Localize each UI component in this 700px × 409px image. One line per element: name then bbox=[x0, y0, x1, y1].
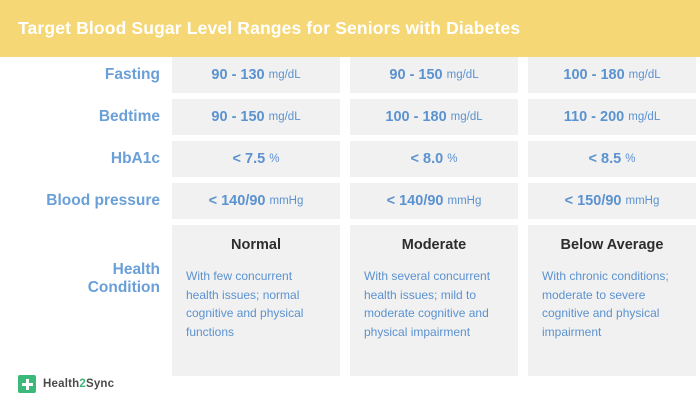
condition-title: Moderate bbox=[364, 237, 504, 253]
cell-condition-normal: Normal With few concurrent health issues… bbox=[172, 225, 340, 376]
cell-bedtime-moderate: 100 - 180 mg/dL bbox=[350, 99, 518, 135]
value-text: 100 - 180 bbox=[563, 67, 624, 83]
value-text: < 140/90 bbox=[387, 193, 444, 209]
column-gap bbox=[518, 225, 528, 376]
value-text: 110 - 200 bbox=[564, 109, 624, 125]
brand-name-part1: Health bbox=[43, 378, 79, 390]
column-gap bbox=[340, 141, 350, 177]
cell-bp-below-average: < 150/90 mmHg bbox=[528, 183, 696, 219]
unit-text: mg/dL bbox=[269, 69, 301, 81]
brand-name: Health2Sync bbox=[43, 378, 114, 390]
row-label-line2: Condition bbox=[88, 279, 160, 297]
table-row: HbA1c < 7.5 % < 8.0 % < 8.5 % bbox=[0, 141, 700, 177]
brand-footer: Health2Sync bbox=[18, 375, 114, 393]
column-gap bbox=[518, 141, 528, 177]
cell-bp-normal: < 140/90 mmHg bbox=[172, 183, 340, 219]
unit-text: mmHg bbox=[625, 195, 659, 207]
page-title: Target Blood Sugar Level Ranges for Seni… bbox=[0, 18, 520, 39]
column-gap bbox=[340, 183, 350, 219]
row-label-bedtime: Bedtime bbox=[0, 99, 172, 135]
row-label-blood-pressure: Blood pressure bbox=[0, 183, 172, 219]
column-gap bbox=[518, 183, 528, 219]
row-label-health-condition: Health Condition bbox=[0, 225, 172, 376]
row-label-hba1c: HbA1c bbox=[0, 141, 172, 177]
table-row-health-condition: Health Condition Normal With few concurr… bbox=[0, 225, 700, 376]
table-row: Blood pressure < 140/90 mmHg < 140/90 mm… bbox=[0, 183, 700, 219]
condition-title: Normal bbox=[186, 237, 326, 253]
infographic-page: Target Blood Sugar Level Ranges for Seni… bbox=[0, 0, 700, 409]
value-text: < 140/90 bbox=[209, 193, 266, 209]
unit-text: mg/dL bbox=[269, 111, 301, 123]
condition-description: With several concurrent health issues; m… bbox=[364, 267, 504, 341]
value-text: < 150/90 bbox=[565, 193, 622, 209]
header-banner: Target Blood Sugar Level Ranges for Seni… bbox=[0, 0, 700, 57]
green-cross-icon bbox=[18, 375, 36, 393]
unit-text: mg/dL bbox=[628, 111, 660, 123]
cell-condition-below-average: Below Average With chronic conditions; m… bbox=[528, 225, 696, 376]
unit-text: % bbox=[447, 153, 457, 165]
cell-hba1c-normal: < 7.5 % bbox=[172, 141, 340, 177]
unit-text: mg/dL bbox=[451, 111, 483, 123]
condition-title: Below Average bbox=[542, 237, 682, 253]
unit-text: mmHg bbox=[269, 195, 303, 207]
cell-fasting-moderate: 90 - 150 mg/dL bbox=[350, 57, 518, 93]
column-gap bbox=[518, 57, 528, 93]
value-text: < 8.0 bbox=[411, 151, 444, 167]
unit-text: mg/dL bbox=[629, 69, 661, 81]
unit-text: mmHg bbox=[447, 195, 481, 207]
row-label-fasting: Fasting bbox=[0, 57, 172, 93]
row-label-line1: Health bbox=[88, 261, 160, 279]
cell-fasting-normal: 90 - 130 mg/dL bbox=[172, 57, 340, 93]
cell-fasting-below-average: 100 - 180 mg/dL bbox=[528, 57, 696, 93]
cell-hba1c-moderate: < 8.0 % bbox=[350, 141, 518, 177]
cell-hba1c-below-average: < 8.5 % bbox=[528, 141, 696, 177]
cell-bp-moderate: < 140/90 mmHg bbox=[350, 183, 518, 219]
unit-text: mg/dL bbox=[447, 69, 479, 81]
condition-description: With chronic conditions; moderate to sev… bbox=[542, 267, 682, 341]
ranges-table: Fasting 90 - 130 mg/dL 90 - 150 mg/dL 10… bbox=[0, 57, 700, 376]
unit-text: % bbox=[625, 153, 635, 165]
table-row: Bedtime 90 - 150 mg/dL 100 - 180 mg/dL 1… bbox=[0, 99, 700, 135]
column-gap bbox=[340, 57, 350, 93]
value-text: < 8.5 bbox=[589, 151, 622, 167]
value-text: 100 - 180 bbox=[385, 109, 446, 125]
brand-name-part2: 2 bbox=[79, 378, 86, 390]
column-gap bbox=[340, 225, 350, 376]
unit-text: % bbox=[269, 153, 279, 165]
value-text: < 7.5 bbox=[233, 151, 266, 167]
cell-bedtime-normal: 90 - 150 mg/dL bbox=[172, 99, 340, 135]
brand-name-part3: Sync bbox=[86, 378, 114, 390]
cell-condition-moderate: Moderate With several concurrent health … bbox=[350, 225, 518, 376]
column-gap bbox=[518, 99, 528, 135]
value-text: 90 - 130 bbox=[211, 67, 264, 83]
cell-bedtime-below-average: 110 - 200 mg/dL bbox=[528, 99, 696, 135]
column-gap bbox=[340, 99, 350, 135]
condition-description: With few concurrent health issues; norma… bbox=[186, 267, 326, 341]
value-text: 90 - 150 bbox=[389, 67, 442, 83]
table-row: Fasting 90 - 130 mg/dL 90 - 150 mg/dL 10… bbox=[0, 57, 700, 93]
value-text: 90 - 150 bbox=[211, 109, 264, 125]
